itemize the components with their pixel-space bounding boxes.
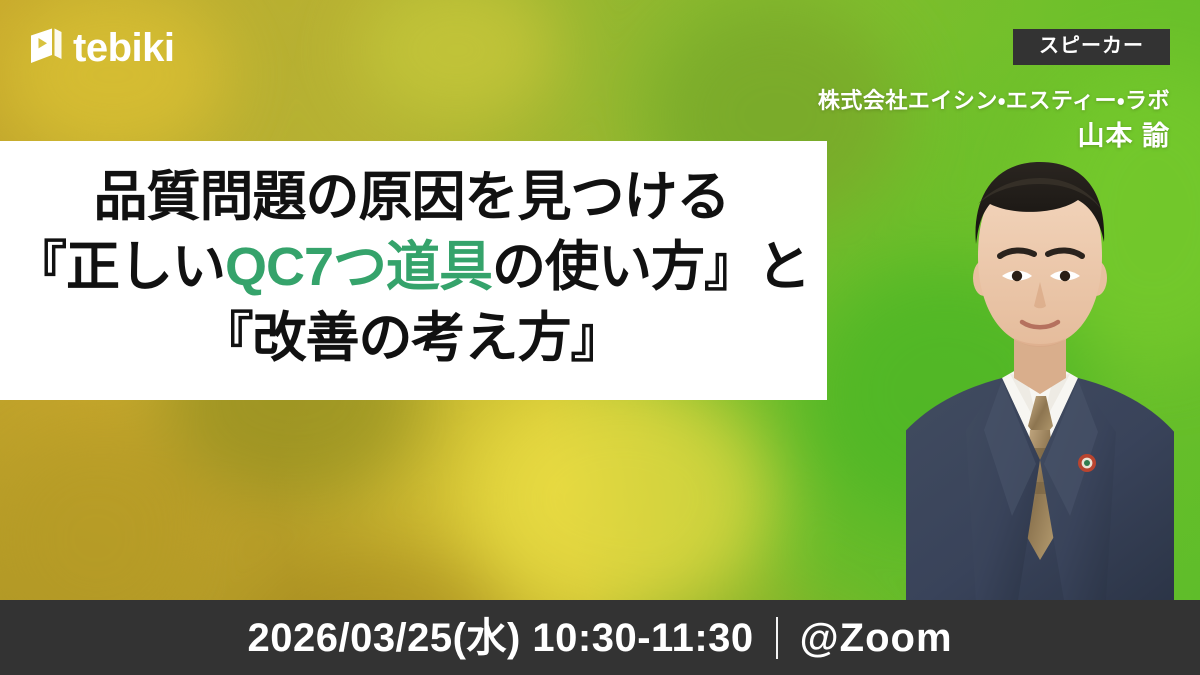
webinar-banner: tebiki スピーカー 株式会社エイシン・エスティー・ラボ 山本 諭 bbox=[0, 0, 1200, 675]
tebiki-book-play-logo-icon bbox=[28, 26, 64, 70]
tebiki-logo[interactable]: tebiki bbox=[28, 26, 174, 70]
speaker-name: 山本 諭 bbox=[818, 118, 1170, 154]
footer-bar: 2026/03/25(水) 10:30-11:30 @Zoom bbox=[0, 600, 1200, 675]
title-line-3: 『改善の考え方』 bbox=[200, 303, 624, 373]
speaker-badge: スピーカー bbox=[1013, 29, 1170, 65]
title-panel: 品質問題の原因を見つける 『正しいQC7つ道具の使い方』と 『改善の考え方』 bbox=[0, 141, 827, 400]
title-line-1: 品質問題の原因を見つける bbox=[94, 162, 730, 232]
title-line-2: 『正しいQC7つ道具の使い方』と bbox=[13, 232, 810, 302]
event-place: @Zoom bbox=[800, 618, 953, 658]
title-accent-qc7: QC7つ道具 bbox=[225, 237, 492, 297]
event-datetime: 2026/03/25(水) 10:30-11:30 bbox=[247, 618, 753, 658]
title-line-2-pre: 『正しい bbox=[13, 237, 225, 297]
title-line-2-post: の使い方』と bbox=[492, 237, 810, 297]
speaker-company: 株式会社エイシン・エスティー・ラボ bbox=[818, 86, 1170, 116]
logo-wordmark: tebiki bbox=[73, 28, 174, 68]
footer-separator bbox=[776, 617, 778, 659]
speaker-meta: 株式会社エイシン・エスティー・ラボ 山本 諭 bbox=[818, 86, 1170, 154]
